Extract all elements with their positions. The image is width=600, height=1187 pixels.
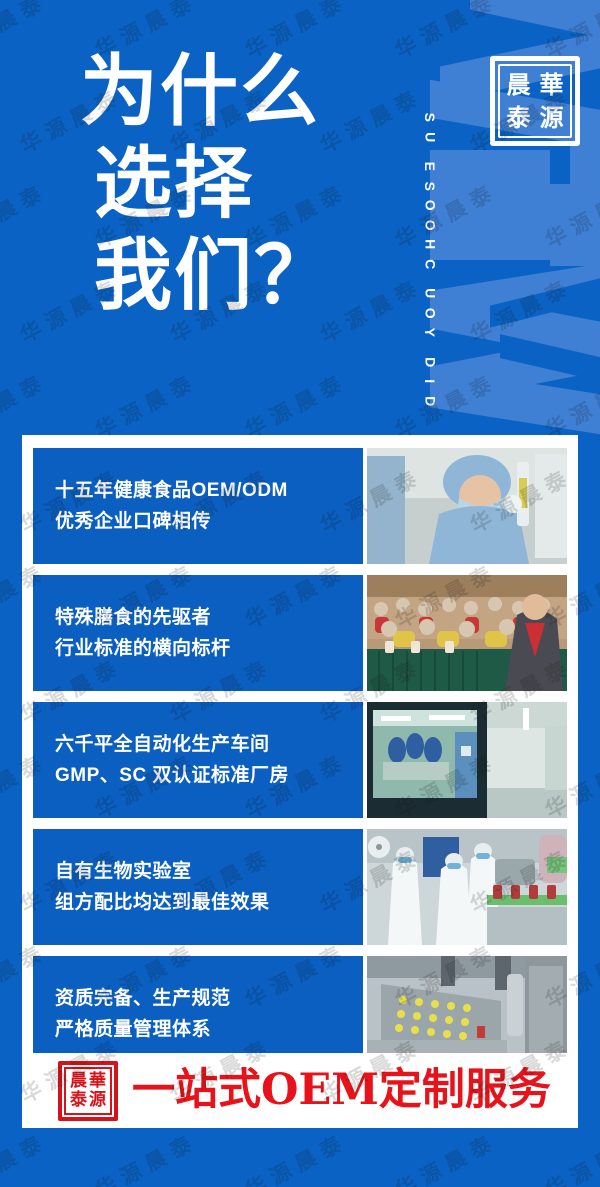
title-line-1: 为什么 — [80, 46, 410, 138]
vertical-letter: S — [421, 181, 439, 190]
watermark-text: 华源晨泰 — [390, 1125, 503, 1187]
feature-text-block: 特殊膳食的先驱者 行业标准的横向标杆 — [33, 575, 363, 691]
feature-text-block: 六千平全自动化生产车间 GMP、SC 双认证标准厂房 — [33, 702, 363, 818]
seal-char: 源 — [535, 101, 568, 134]
feature-line: 十五年健康食品OEM/ODM — [55, 479, 363, 503]
feature-photo-conference-audience — [367, 575, 567, 691]
watermark-text: 华源晨泰 — [0, 1125, 52, 1187]
poster-root: 为什么 选择 我们？ D I D Y O U C H O O S E U S 華… — [0, 0, 600, 1187]
footer-banner: 華 晨 源 泰 一站式OEM定制服务 — [22, 1053, 578, 1128]
vertical-letter: O — [421, 220, 439, 231]
seal-char: 泰 — [502, 101, 535, 134]
seal-char: 泰 — [69, 1091, 88, 1110]
watermark-text: 华源晨泰 — [90, 1125, 203, 1187]
vertical-letter: U — [421, 132, 439, 142]
feature-row: 自有生物实验室 组方配比均达到最佳效果 — [33, 829, 567, 945]
seal-char: 華 — [535, 68, 568, 101]
feature-row: 六千平全自动化生产车间 GMP、SC 双认证标准厂房 — [33, 702, 567, 818]
vertical-letter: D — [421, 396, 439, 406]
watermark-text: 华源晨泰 — [90, 365, 203, 444]
vertical-letter: D — [421, 357, 439, 367]
feature-line: 优秀企业口碑相传 — [55, 510, 363, 534]
vertical-letter: I — [421, 379, 439, 383]
vertical-caption: D I D Y O U C H O O S E U S — [413, 14, 447, 410]
feature-row: 特殊膳食的先驱者 行业标准的横向标杆 — [33, 575, 567, 691]
footer-seal-logo: 華 晨 源 泰 — [58, 1061, 118, 1121]
watermark-text: 华源晨泰 — [240, 1125, 353, 1187]
feature-list-panel: 十五年健康食品OEM/ODM 优秀企业口碑相传 — [22, 435, 578, 1128]
watermark-text: 华源晨泰 — [0, 0, 52, 65]
title-line-3: 我们？ — [80, 230, 410, 322]
vertical-letter: E — [421, 162, 439, 171]
title-line-2: 选择 — [80, 138, 410, 230]
vertical-letter: S — [421, 113, 439, 122]
feature-text-block: 十五年健康食品OEM/ODM 优秀企业口碑相传 — [33, 448, 363, 564]
feature-line: 自有生物实验室 — [55, 860, 363, 884]
feature-line: 组方配比均达到最佳效果 — [55, 891, 363, 915]
feature-photo-production-workshop — [367, 702, 567, 818]
feature-text-block: 自有生物实验室 组方配比均达到最佳效果 — [33, 829, 363, 945]
vertical-letter: Y — [421, 328, 439, 337]
feature-line: 严格质量管理体系 — [55, 1018, 363, 1042]
vertical-letter: C — [421, 259, 439, 269]
feature-row: 十五年健康食品OEM/ODM 优秀企业口碑相传 — [33, 448, 567, 564]
seal-char: 華 — [88, 1072, 107, 1091]
vertical-letter: U — [421, 288, 439, 298]
watermark-text: 华源晨泰 — [0, 365, 52, 444]
feature-line: 特殊膳食的先驱者 — [55, 606, 363, 630]
feature-line: 资质完备、生产规范 — [55, 987, 363, 1011]
seal-char: 晨 — [502, 68, 535, 101]
brand-seal-logo: 華 晨 源 泰 — [490, 56, 580, 146]
vertical-letter: H — [421, 239, 439, 249]
footer-slogan: 一站式OEM定制服务 — [132, 1069, 551, 1112]
watermark-text: 华源晨泰 — [0, 175, 52, 254]
feature-photo-filling-line — [367, 829, 567, 945]
feature-line: 行业标准的横向标杆 — [55, 637, 363, 661]
feature-line: GMP、SC 双认证标准厂房 — [55, 764, 363, 788]
watermark-text: 华源晨泰 — [240, 365, 353, 444]
seal-char: 晨 — [69, 1072, 88, 1091]
feature-photo-lab-technician — [367, 448, 567, 564]
watermark-text: 华源晨泰 — [540, 1125, 600, 1187]
seal-char: 源 — [88, 1091, 107, 1110]
vertical-letter: O — [421, 307, 439, 318]
page-title: 为什么 选择 我们？ — [80, 46, 410, 322]
vertical-letter: O — [421, 200, 439, 211]
feature-line: 六千平全自动化生产车间 — [55, 733, 363, 757]
